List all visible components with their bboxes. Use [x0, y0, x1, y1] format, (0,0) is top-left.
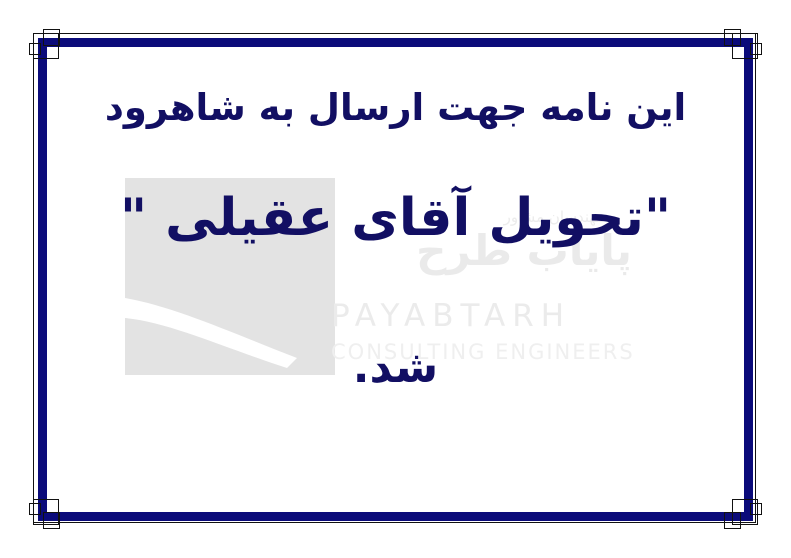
document-line-2: "تحویل آقای عقیلی " — [60, 188, 731, 248]
corner-square-large — [732, 33, 758, 59]
document-body: این نامه جهت ارسال به شاهرود "تحویل آقای… — [60, 60, 731, 498]
corner-square-small — [750, 503, 762, 515]
document-line-3: شد. — [60, 342, 731, 393]
document-page: مهندسان مشاور پایاب طرح PAYABTARH CONSUL… — [0, 0, 791, 558]
corner-square-medium — [724, 29, 741, 46]
corner-square-large — [732, 499, 758, 525]
corner-square-medium — [43, 512, 60, 529]
corner-square-large — [33, 33, 59, 59]
document-line-1: این نامه جهت ارسال به شاهرود — [60, 86, 731, 129]
corner-square-medium — [724, 512, 741, 529]
corner-square-small — [29, 503, 41, 515]
corner-square-small — [750, 43, 762, 55]
corner-square-small — [29, 43, 41, 55]
corner-square-medium — [43, 29, 60, 46]
corner-square-large — [33, 499, 59, 525]
